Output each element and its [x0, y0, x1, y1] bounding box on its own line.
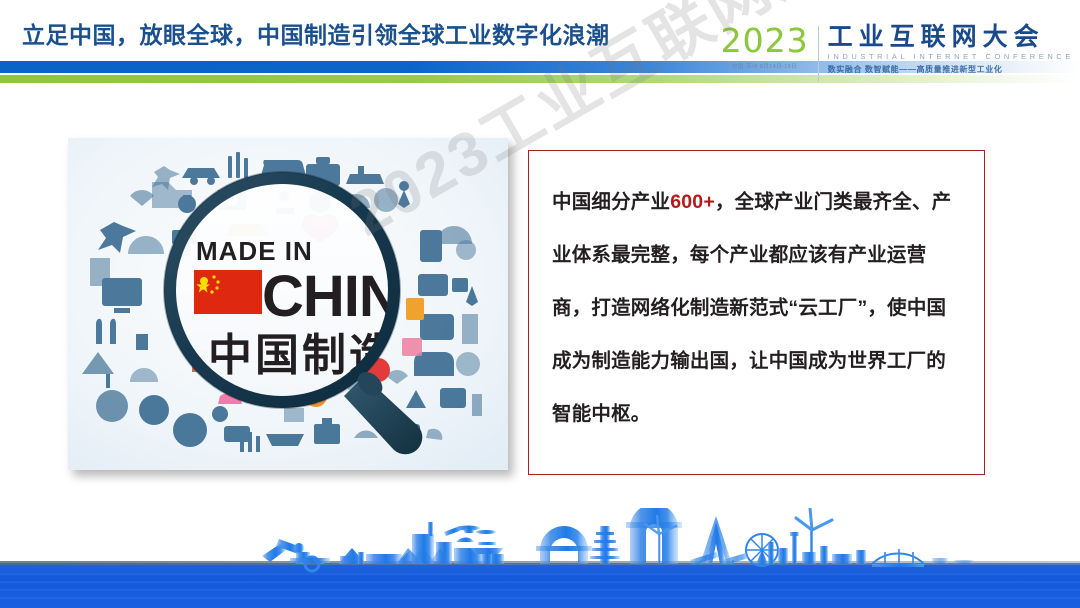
logo-name-block: 工业互联网大会 INDUSTRIAL INTERNET CONFERENCE 数… [819, 24, 1074, 75]
svg-text:MADE IN: MADE IN [196, 236, 313, 266]
logo-slogan: 数实融合 数智赋能——高质量推进新型工业化 [828, 64, 1074, 75]
page-title: 立足中国，放眼全球，中国制造引领全球工业数字化浪潮 [22, 16, 610, 50]
logo-year: 2023 [721, 24, 809, 57]
made-in-china-illustration: MADE IN CHINA 中国制造 [68, 138, 508, 470]
logo-name-cn: 工业互联网大会 [828, 24, 1074, 50]
conference-logo: 2023 中国·苏州 8月14日-15日 工业互联网大会 INDUSTRIAL … [721, 24, 1074, 86]
skyline-illustration [0, 508, 1080, 608]
body-paragraph: 中国细分产业600+，全球产业门类最齐全、产业体系最完整，每个产业都应该有产业运… [552, 176, 964, 441]
metric-600-plus: 600+ [670, 191, 715, 213]
logo-name-en: INDUSTRIAL INTERNET CONFERENCE [828, 52, 1074, 61]
logo-place-date: 中国·苏州 8月14日-15日 [732, 62, 797, 70]
made-in-china-image: MADE IN CHINA 中国制造 [68, 138, 508, 470]
footer-skyline [0, 508, 1080, 608]
logo-year-block: 2023 中国·苏州 8月14日-15日 [721, 24, 818, 70]
slide-canvas: 立足中国，放眼全球，中国制造引领全球工业数字化浪潮 2023 中国·苏州 8月1… [0, 0, 1080, 608]
body-line: 中国细分产业600+，全球产业门类最齐全、产业体系最完整，每个产业都应该有产业运… [552, 191, 951, 425]
